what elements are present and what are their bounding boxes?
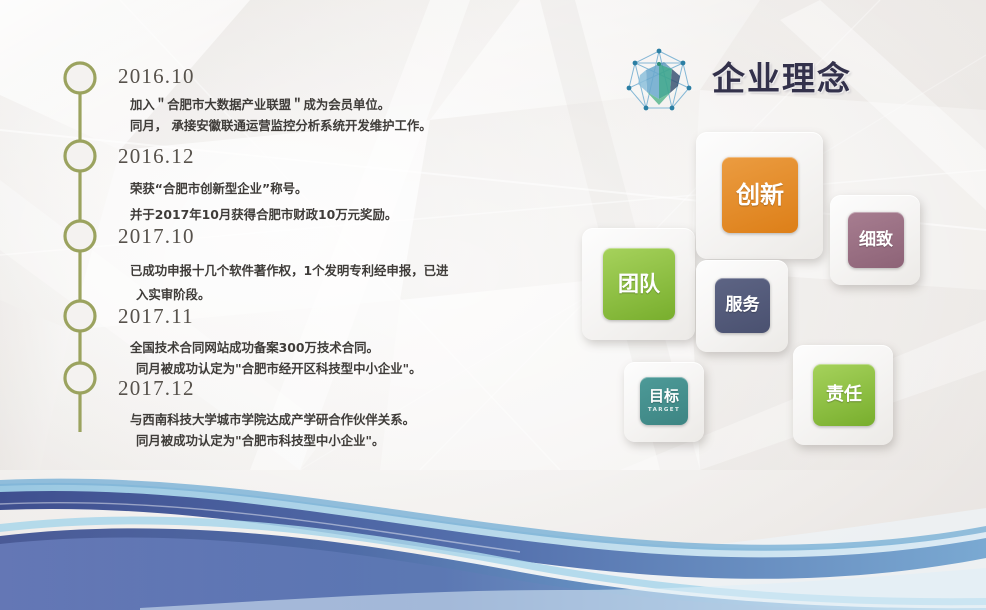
value-sublabel-target: TARGET — [648, 407, 680, 413]
polygon-network-gem-icon — [620, 46, 698, 116]
timeline-entry[interactable]: 2017.10 已成功申报十几个软件著作权，1个发明专利经申报，已进 入实审阶段… — [118, 226, 448, 307]
timeline-entry[interactable]: 2016.10 加入＂合肥市大数据产业联盟＂成为会员单位。 同月， 承接安徽联通… — [118, 66, 432, 136]
section-header: 企业理念 — [620, 42, 940, 114]
value-label-responsibility: 责任 — [826, 386, 862, 404]
history-timeline: 2016.10 加入＂合肥市大数据产业联盟＂成为会员单位。 同月， 承接安徽联通… — [0, 0, 520, 470]
timeline-year: 2017.11 — [118, 306, 422, 327]
value-chip-innovation: 创新 — [722, 157, 798, 233]
timeline-axis — [62, 60, 98, 440]
timeline-detail-line: 全国技术合同网站成功备案300万技术合同。 — [130, 337, 422, 358]
timeline-detail-line: 荣获“合肥市创新型企业”称号。 — [130, 176, 397, 202]
value-card-responsibility[interactable]: 责任 — [793, 345, 893, 445]
poster-canvas: 2016.10 加入＂合肥市大数据产业联盟＂成为会员单位。 同月， 承接安徽联通… — [0, 0, 986, 610]
page-title: 企业理念 — [712, 52, 852, 100]
timeline-node — [65, 141, 95, 171]
timeline-node — [65, 221, 95, 251]
timeline-entry[interactable]: 2016.12 荣获“合肥市创新型企业”称号。 并于2017年10月获得合肥市财… — [118, 146, 397, 228]
value-card-meticulousness[interactable]: 细致 — [830, 195, 920, 285]
timeline-detail-line: 已成功申报十几个软件著作权，1个发明专利经申报，已进 — [130, 259, 448, 283]
bottom-wave-decoration — [0, 440, 986, 610]
value-card-innovation[interactable]: 创新 — [696, 132, 823, 259]
value-label-meticulousness: 细致 — [859, 232, 893, 249]
timeline-detail-line: 加入＂合肥市大数据产业联盟＂成为会员单位。 — [130, 94, 432, 115]
timeline-node — [65, 301, 95, 331]
values-card-cluster: 团队 创新 细致 服务 目标 TARGET — [560, 120, 980, 470]
timeline-year: 2017.10 — [118, 226, 448, 247]
value-label-service: 服务 — [726, 297, 760, 314]
value-card-target[interactable]: 目标 TARGET — [624, 362, 704, 442]
value-chip-responsibility: 责任 — [813, 364, 875, 426]
value-chip-meticulousness: 细致 — [848, 212, 904, 268]
timeline-year: 2016.10 — [118, 66, 432, 87]
timeline-node — [65, 363, 95, 393]
timeline-entry[interactable]: 2017.11 全国技术合同网站成功备案300万技术合同。 同月被成功认定为"合… — [118, 306, 422, 379]
value-card-service[interactable]: 服务 — [696, 260, 788, 352]
value-chip-team: 团队 — [603, 248, 675, 320]
value-label-team: 团队 — [618, 274, 660, 295]
timeline-detail-line: 同月， 承接安徽联通运营监控分析系统开发维护工作。 — [130, 115, 432, 136]
value-chip-service: 服务 — [715, 278, 770, 333]
timeline-detail-line: 与西南科技大学城市学院达成产学研合作伙伴关系。 — [130, 409, 415, 430]
value-card-team[interactable]: 团队 — [582, 228, 695, 340]
value-label-innovation: 创新 — [736, 183, 784, 207]
value-label-target: 目标 — [649, 389, 679, 404]
timeline-node — [65, 63, 95, 93]
timeline-year: 2017.12 — [118, 378, 415, 399]
value-chip-target: 目标 TARGET — [640, 377, 688, 425]
timeline-year: 2016.12 — [118, 146, 397, 167]
